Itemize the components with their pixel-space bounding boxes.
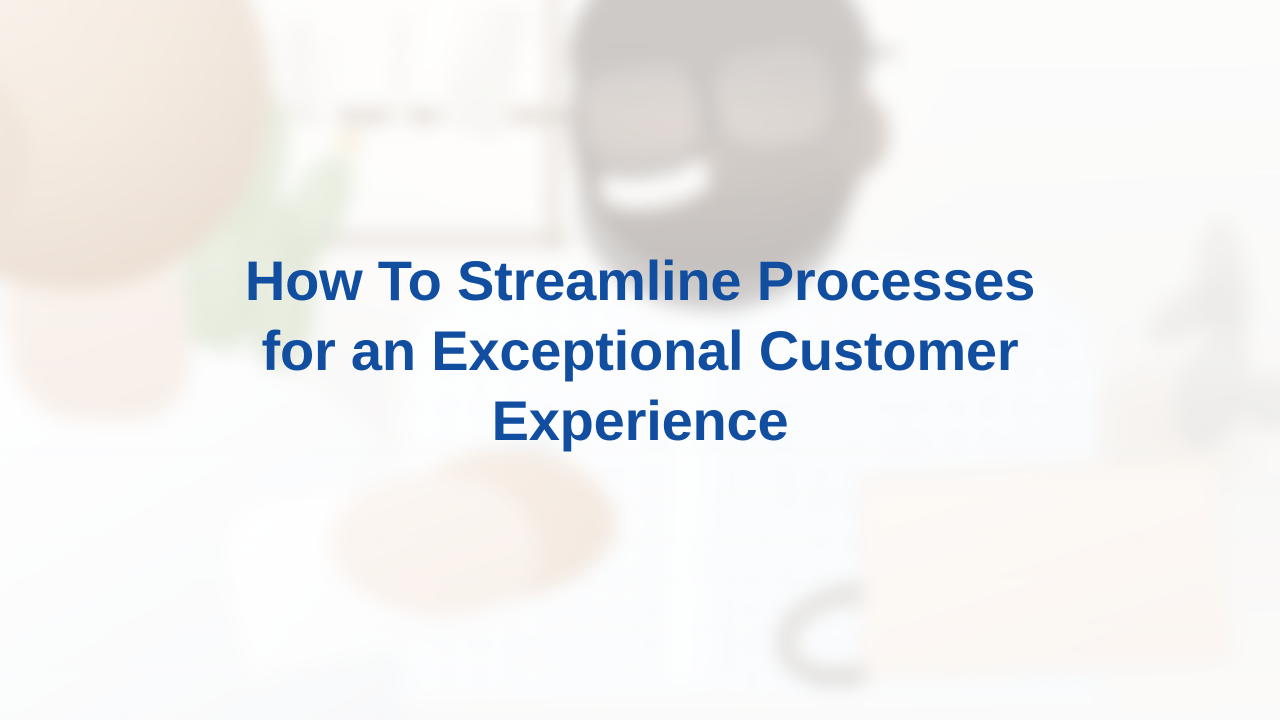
headline-line-3: Experience: [80, 386, 1200, 456]
page-title: How To Streamline Processes for an Excep…: [0, 246, 1280, 456]
headline-line-1: How To Streamline Processes: [80, 246, 1200, 316]
headline-line-2: for an Exceptional Customer: [80, 316, 1200, 386]
hero-banner: How To Streamline Processes for an Excep…: [0, 0, 1280, 720]
